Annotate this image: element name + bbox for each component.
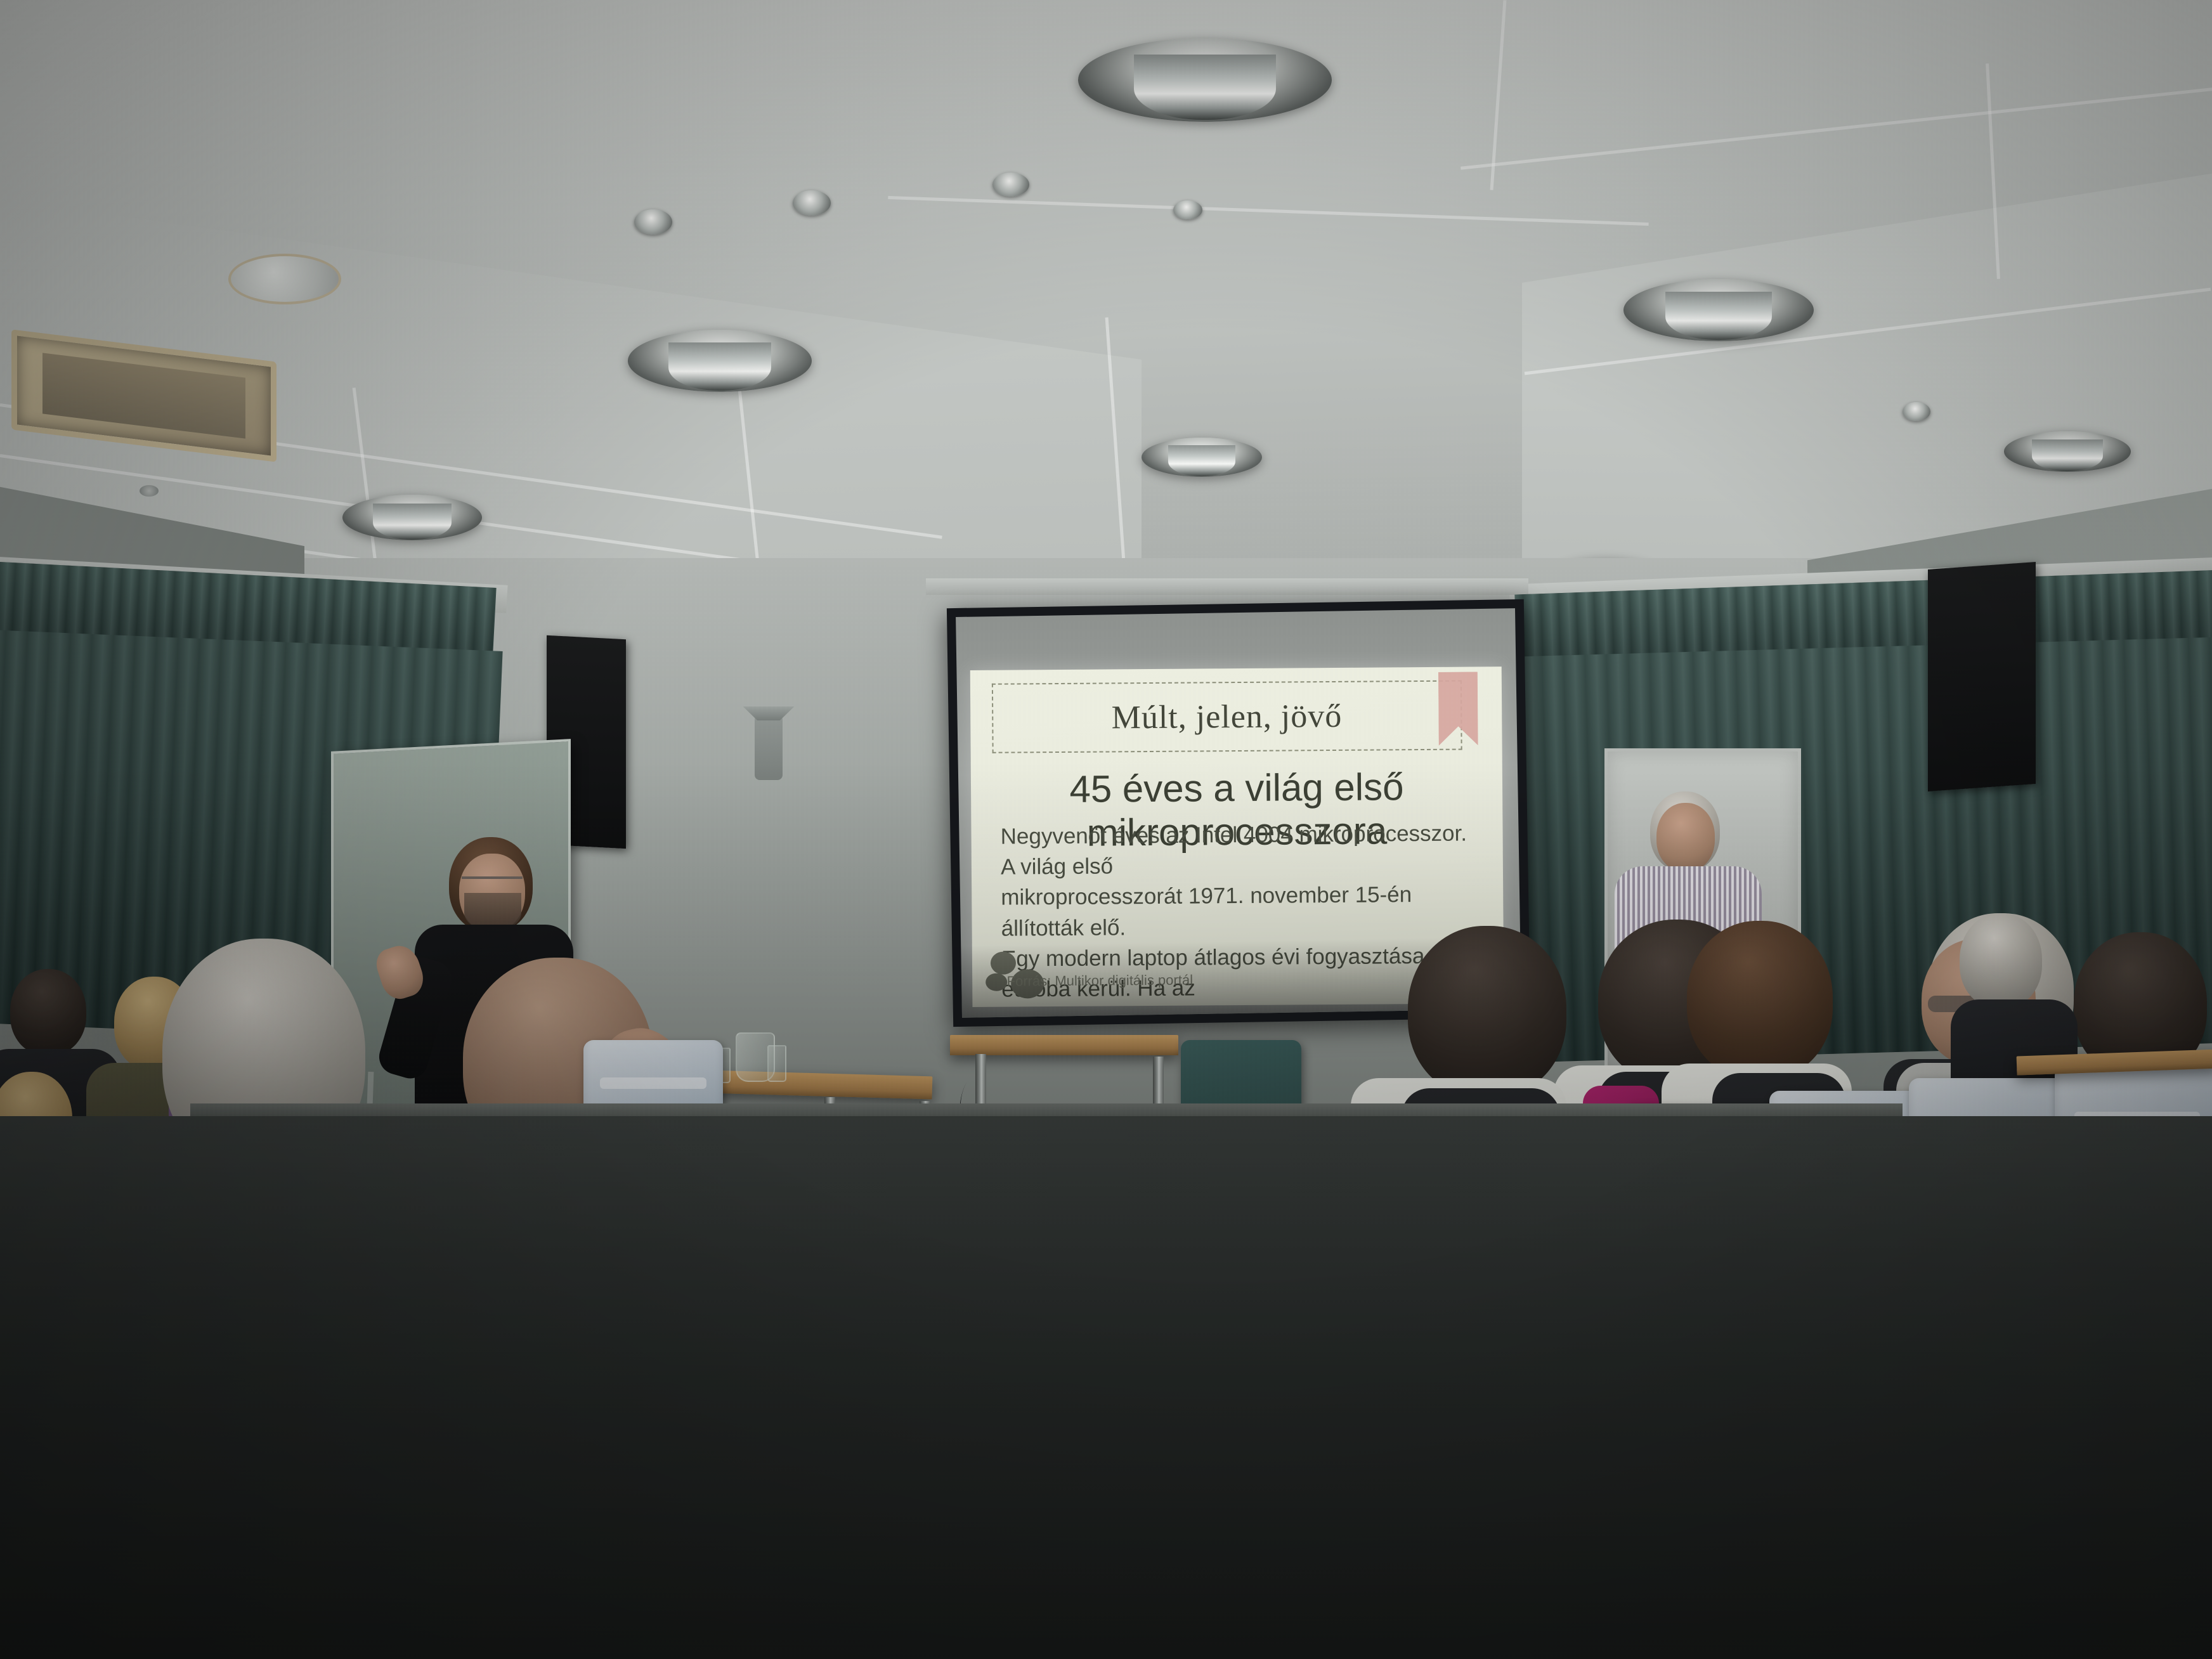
ceiling-downlight [1142, 438, 1262, 477]
smoke-detector [140, 485, 159, 497]
presenter-glasses-icon [462, 876, 523, 879]
presentation-room-photo: ↓ [0, 0, 2212, 1659]
wall-speaker-right [1928, 562, 2036, 791]
slide-source-attribution: Forrás: Multikor digitális portál [1007, 972, 1194, 990]
ceiling-spot [793, 190, 831, 216]
attendee-head [1408, 926, 1566, 1097]
ceiling-downlight [342, 495, 482, 540]
ceiling-downlight [1078, 38, 1332, 122]
ceiling-downlight [1623, 279, 1814, 341]
ceiling: ↓ [0, 0, 2212, 634]
soffit-beam-center [926, 578, 1528, 595]
ceiling-downlight [2004, 431, 2131, 472]
ceiling-dome-fixture [228, 254, 341, 304]
slide-title-box: Múlt, jelen, jövő [992, 680, 1462, 753]
ceiling-spot [1173, 200, 1202, 219]
ceiling-spot [992, 172, 1029, 197]
ceiling-spot [634, 209, 672, 235]
attendee-head [1687, 921, 1833, 1079]
ceiling-spot [1903, 402, 1930, 421]
attendee-face [1656, 803, 1715, 871]
slide-body-line: Negyvenöt éves az Intel 4004 mikroproces… [1001, 819, 1474, 883]
ceiling-downlight [628, 330, 812, 392]
av-table-center [950, 1035, 1178, 1055]
attendee-head [1960, 913, 2042, 1008]
wall-sconce-light [755, 717, 783, 780]
floor-carpet [0, 1116, 2212, 1659]
slide-title: Múlt, jelen, jövő [1112, 698, 1343, 737]
